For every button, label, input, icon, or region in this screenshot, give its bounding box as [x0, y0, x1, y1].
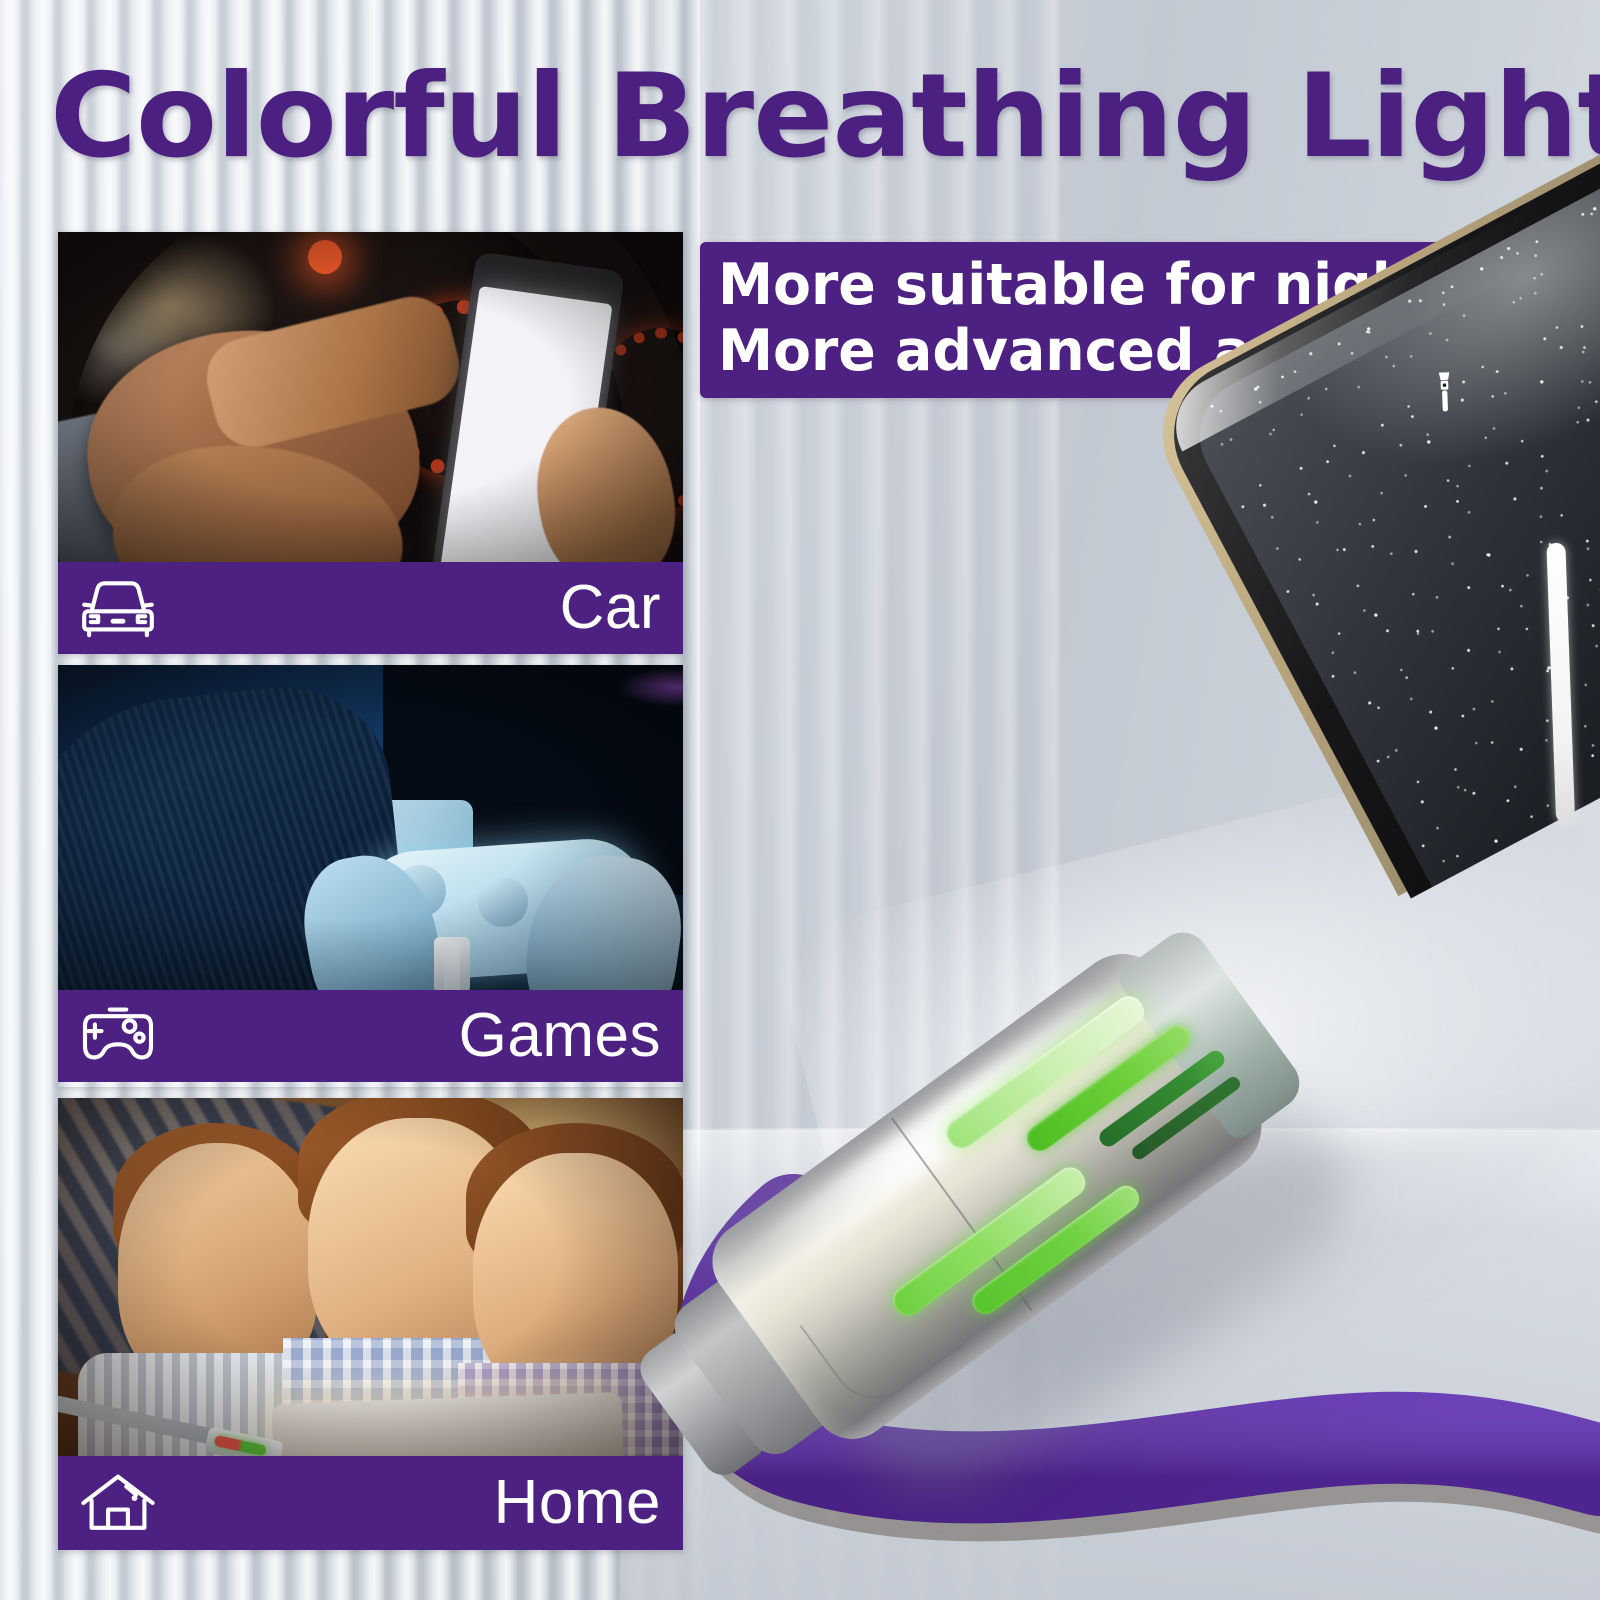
product-infographic: Colorful Breathing Light More suitable f… — [0, 0, 1600, 1600]
scenario-label-bar-games: Games — [58, 990, 683, 1082]
scenario-photo-games — [58, 665, 683, 990]
gamepad-icon — [76, 1003, 160, 1069]
home-icon — [76, 1470, 160, 1536]
flashlight-icon — [1435, 367, 1455, 420]
scenario-label-games: Games — [459, 1003, 661, 1069]
scenario-label-car: Car — [560, 575, 661, 641]
scenario-label-bar-home: Home — [58, 1456, 683, 1550]
scenario-label-home: Home — [494, 1470, 661, 1536]
page-title: Colorful Breathing Light — [50, 52, 1590, 182]
scenario-label-bar-car: Car — [58, 562, 683, 654]
scenario-card-games[interactable]: Games — [58, 665, 683, 1087]
car-icon — [76, 575, 160, 641]
scenario-card-home[interactable]: Home — [58, 1098, 683, 1550]
scenario-photo-car — [58, 232, 683, 562]
scenario-photo-home — [58, 1098, 683, 1456]
scenario-card-car[interactable]: Car — [58, 232, 683, 654]
